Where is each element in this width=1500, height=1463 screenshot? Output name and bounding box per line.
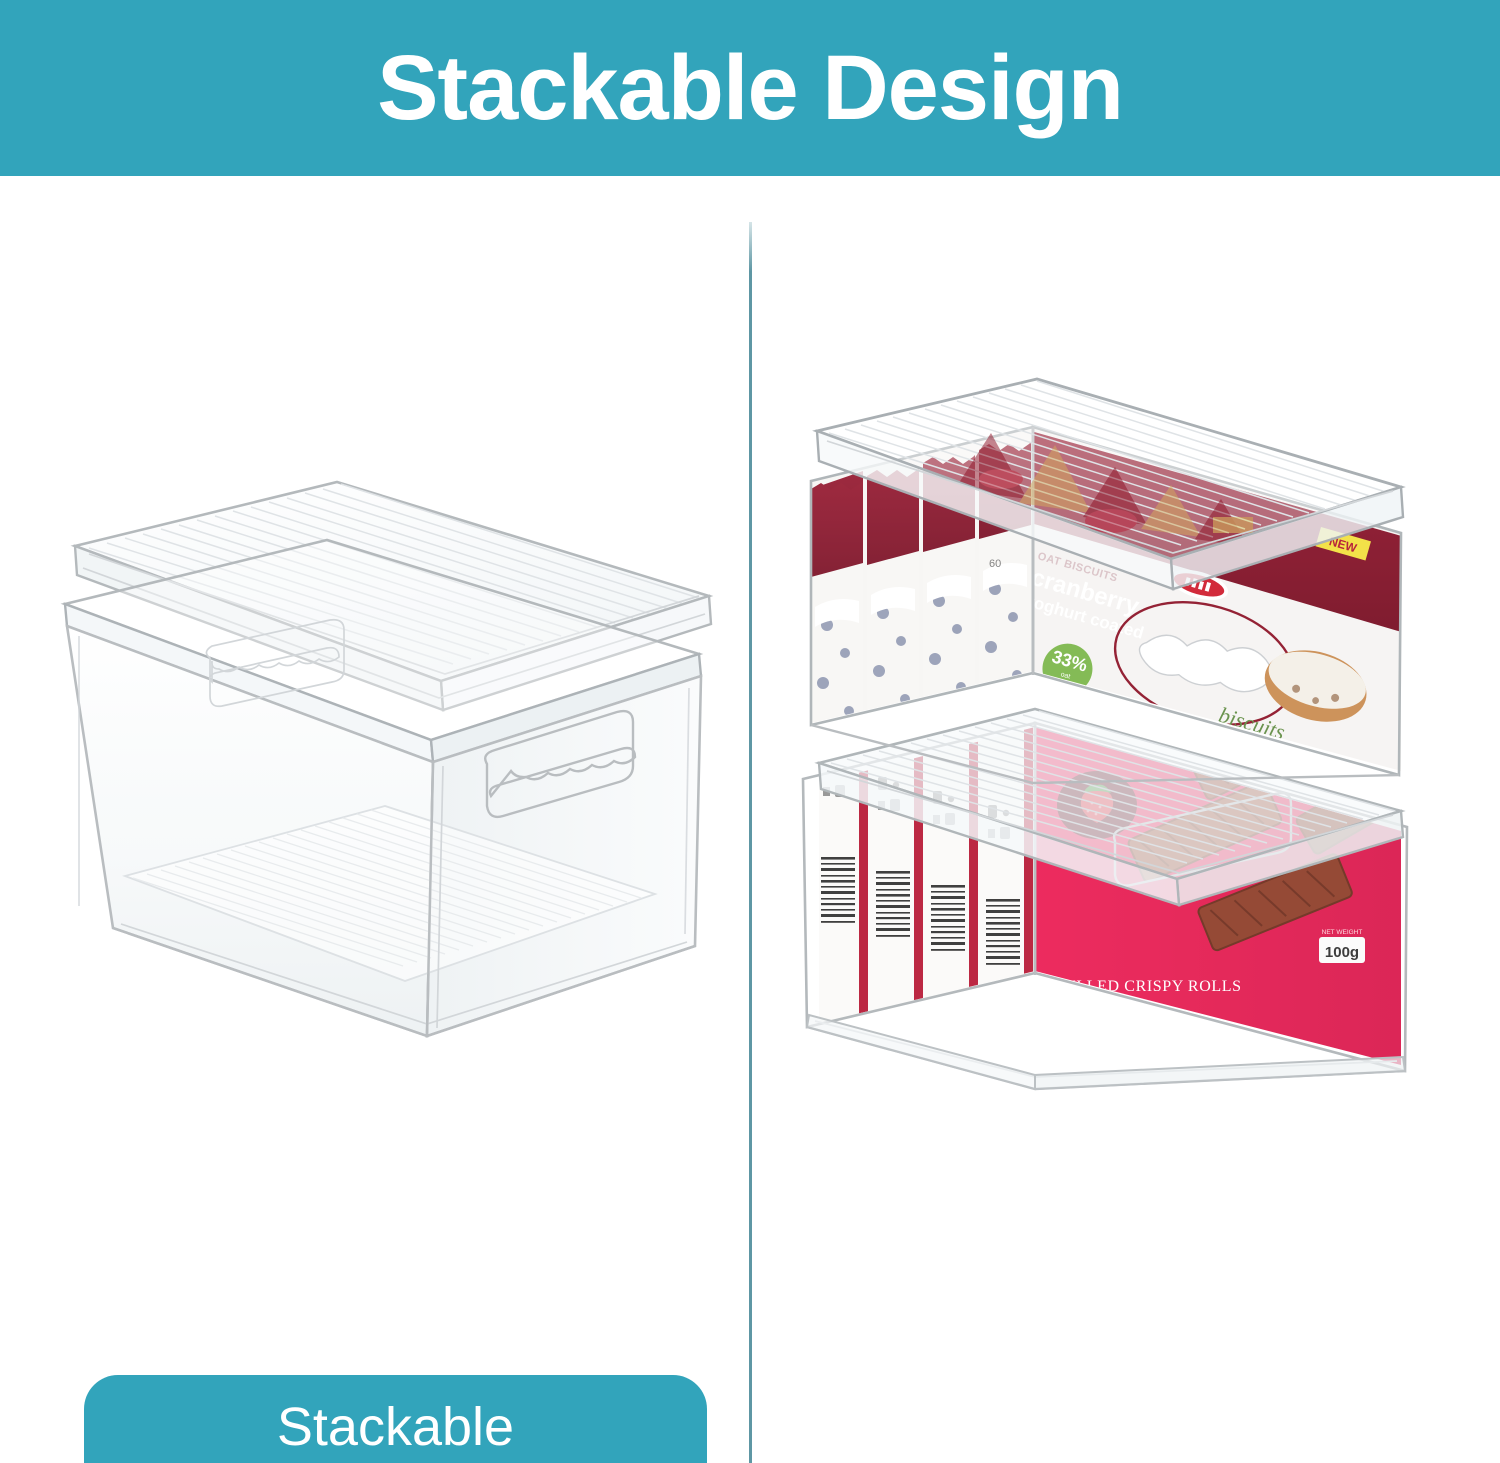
stacked-clear-storage-bins-with-lids: 100g NET WEIGHT FILLED CRISPY ROLLS The …: [797, 371, 1487, 1141]
bottom-bin: 100g NET WEIGHT FILLED CRISPY ROLLS The …: [797, 700, 1427, 1091]
caption-left-line2: without use: [259, 1459, 532, 1463]
caption-left-line1: Stackable: [259, 1396, 532, 1459]
panel-right: 100g NET WEIGHT FILLED CRISPY ROLLS The …: [752, 176, 1500, 1463]
caption-stackable-without-use: Stackable without use: [84, 1375, 707, 1463]
svg-text:The crispy flavors, find new: The crispy flavors, find new: [1065, 1005, 1173, 1016]
page-title: Stackable Design: [377, 42, 1123, 134]
svg-text:filling style.: filling style.: [1079, 1017, 1125, 1028]
header-banner: Stackable Design: [0, 0, 1500, 176]
infographic-page: Stackable Design: [0, 0, 1500, 1463]
clear-storage-bin-with-lid: [55, 476, 735, 1046]
panel-left: Stackable without use: [0, 176, 749, 1463]
